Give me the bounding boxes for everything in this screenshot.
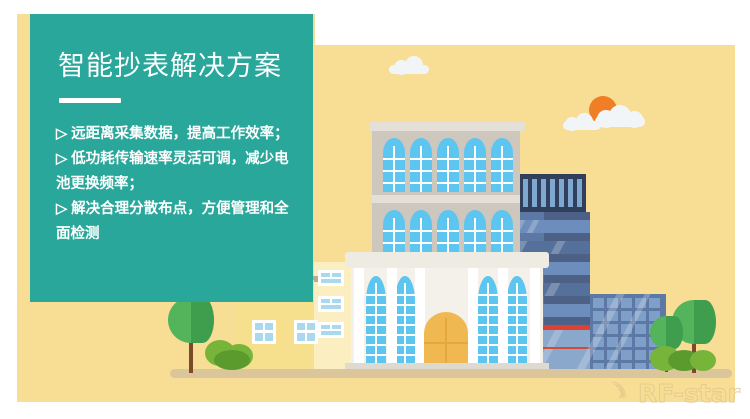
list-item: ▷低功耗传输速率灵活可调，减少电池更换频率； (56, 147, 300, 197)
swirl-icon (608, 378, 634, 409)
arched-window (410, 138, 432, 192)
building-column (387, 268, 397, 366)
central-building-cornice (372, 195, 520, 203)
list-item: ▷远距离采集数据，提高工作效率； (56, 122, 300, 147)
house-window (318, 270, 344, 286)
arched-window (437, 138, 459, 192)
house-window (252, 320, 276, 344)
panel-title: 智能抄表解决方案 (58, 44, 282, 83)
arched-window (464, 138, 486, 192)
arched-window (395, 276, 415, 364)
bullet-text: 解决合理分散布点，方便管理和全面检测 (56, 201, 289, 242)
central-building-cornice (369, 122, 525, 131)
illustration-scene: 智能抄表解决方案 ▷远距离采集数据，提高工作效率； ▷低功耗传输速率灵活可调，减… (0, 0, 750, 419)
tree-foliage-shade (666, 316, 683, 349)
cloud-icon (389, 56, 429, 74)
bush-shade (214, 350, 250, 370)
building-column (468, 268, 478, 366)
panel-bullet-list: ▷远距离采集数据，提高工作效率； ▷低功耗传输速率灵活可调，减少电池更换频率； … (56, 122, 300, 247)
house-window (318, 296, 344, 312)
bullet-text: 远距离采集数据，提高工作效率； (71, 126, 289, 142)
tree-foliage-shade (191, 297, 214, 343)
bullet-marker-icon: ▷ (56, 147, 67, 172)
title-underline (59, 98, 121, 103)
building-column (498, 268, 508, 366)
house-window (294, 320, 318, 344)
bullet-marker-icon: ▷ (56, 197, 67, 222)
house-window (318, 322, 344, 338)
building-column (354, 268, 364, 366)
building-column (530, 268, 540, 366)
ground-strip (170, 369, 732, 378)
brand-watermark: RF-star (608, 378, 740, 409)
tree-foliage-shade (694, 300, 716, 344)
bullet-marker-icon: ▷ (56, 122, 67, 147)
arched-window (366, 276, 386, 364)
central-building-entablature (345, 252, 549, 268)
bullet-text: 低功耗传输速率灵活可调，减少电池更换频率； (56, 151, 289, 192)
bush (690, 350, 716, 371)
arched-window (491, 138, 513, 192)
arched-window (383, 138, 405, 192)
list-item: ▷解决合理分散布点，方便管理和全面检测 (56, 197, 300, 247)
arched-window (507, 276, 527, 364)
cloud-icon (595, 105, 645, 127)
arched-window (478, 276, 498, 364)
solution-panel: 智能抄表解决方案 ▷远距离采集数据，提高工作效率； ▷低功耗传输速率灵活可调，减… (30, 14, 313, 302)
brand-name: RF-star (638, 379, 740, 408)
